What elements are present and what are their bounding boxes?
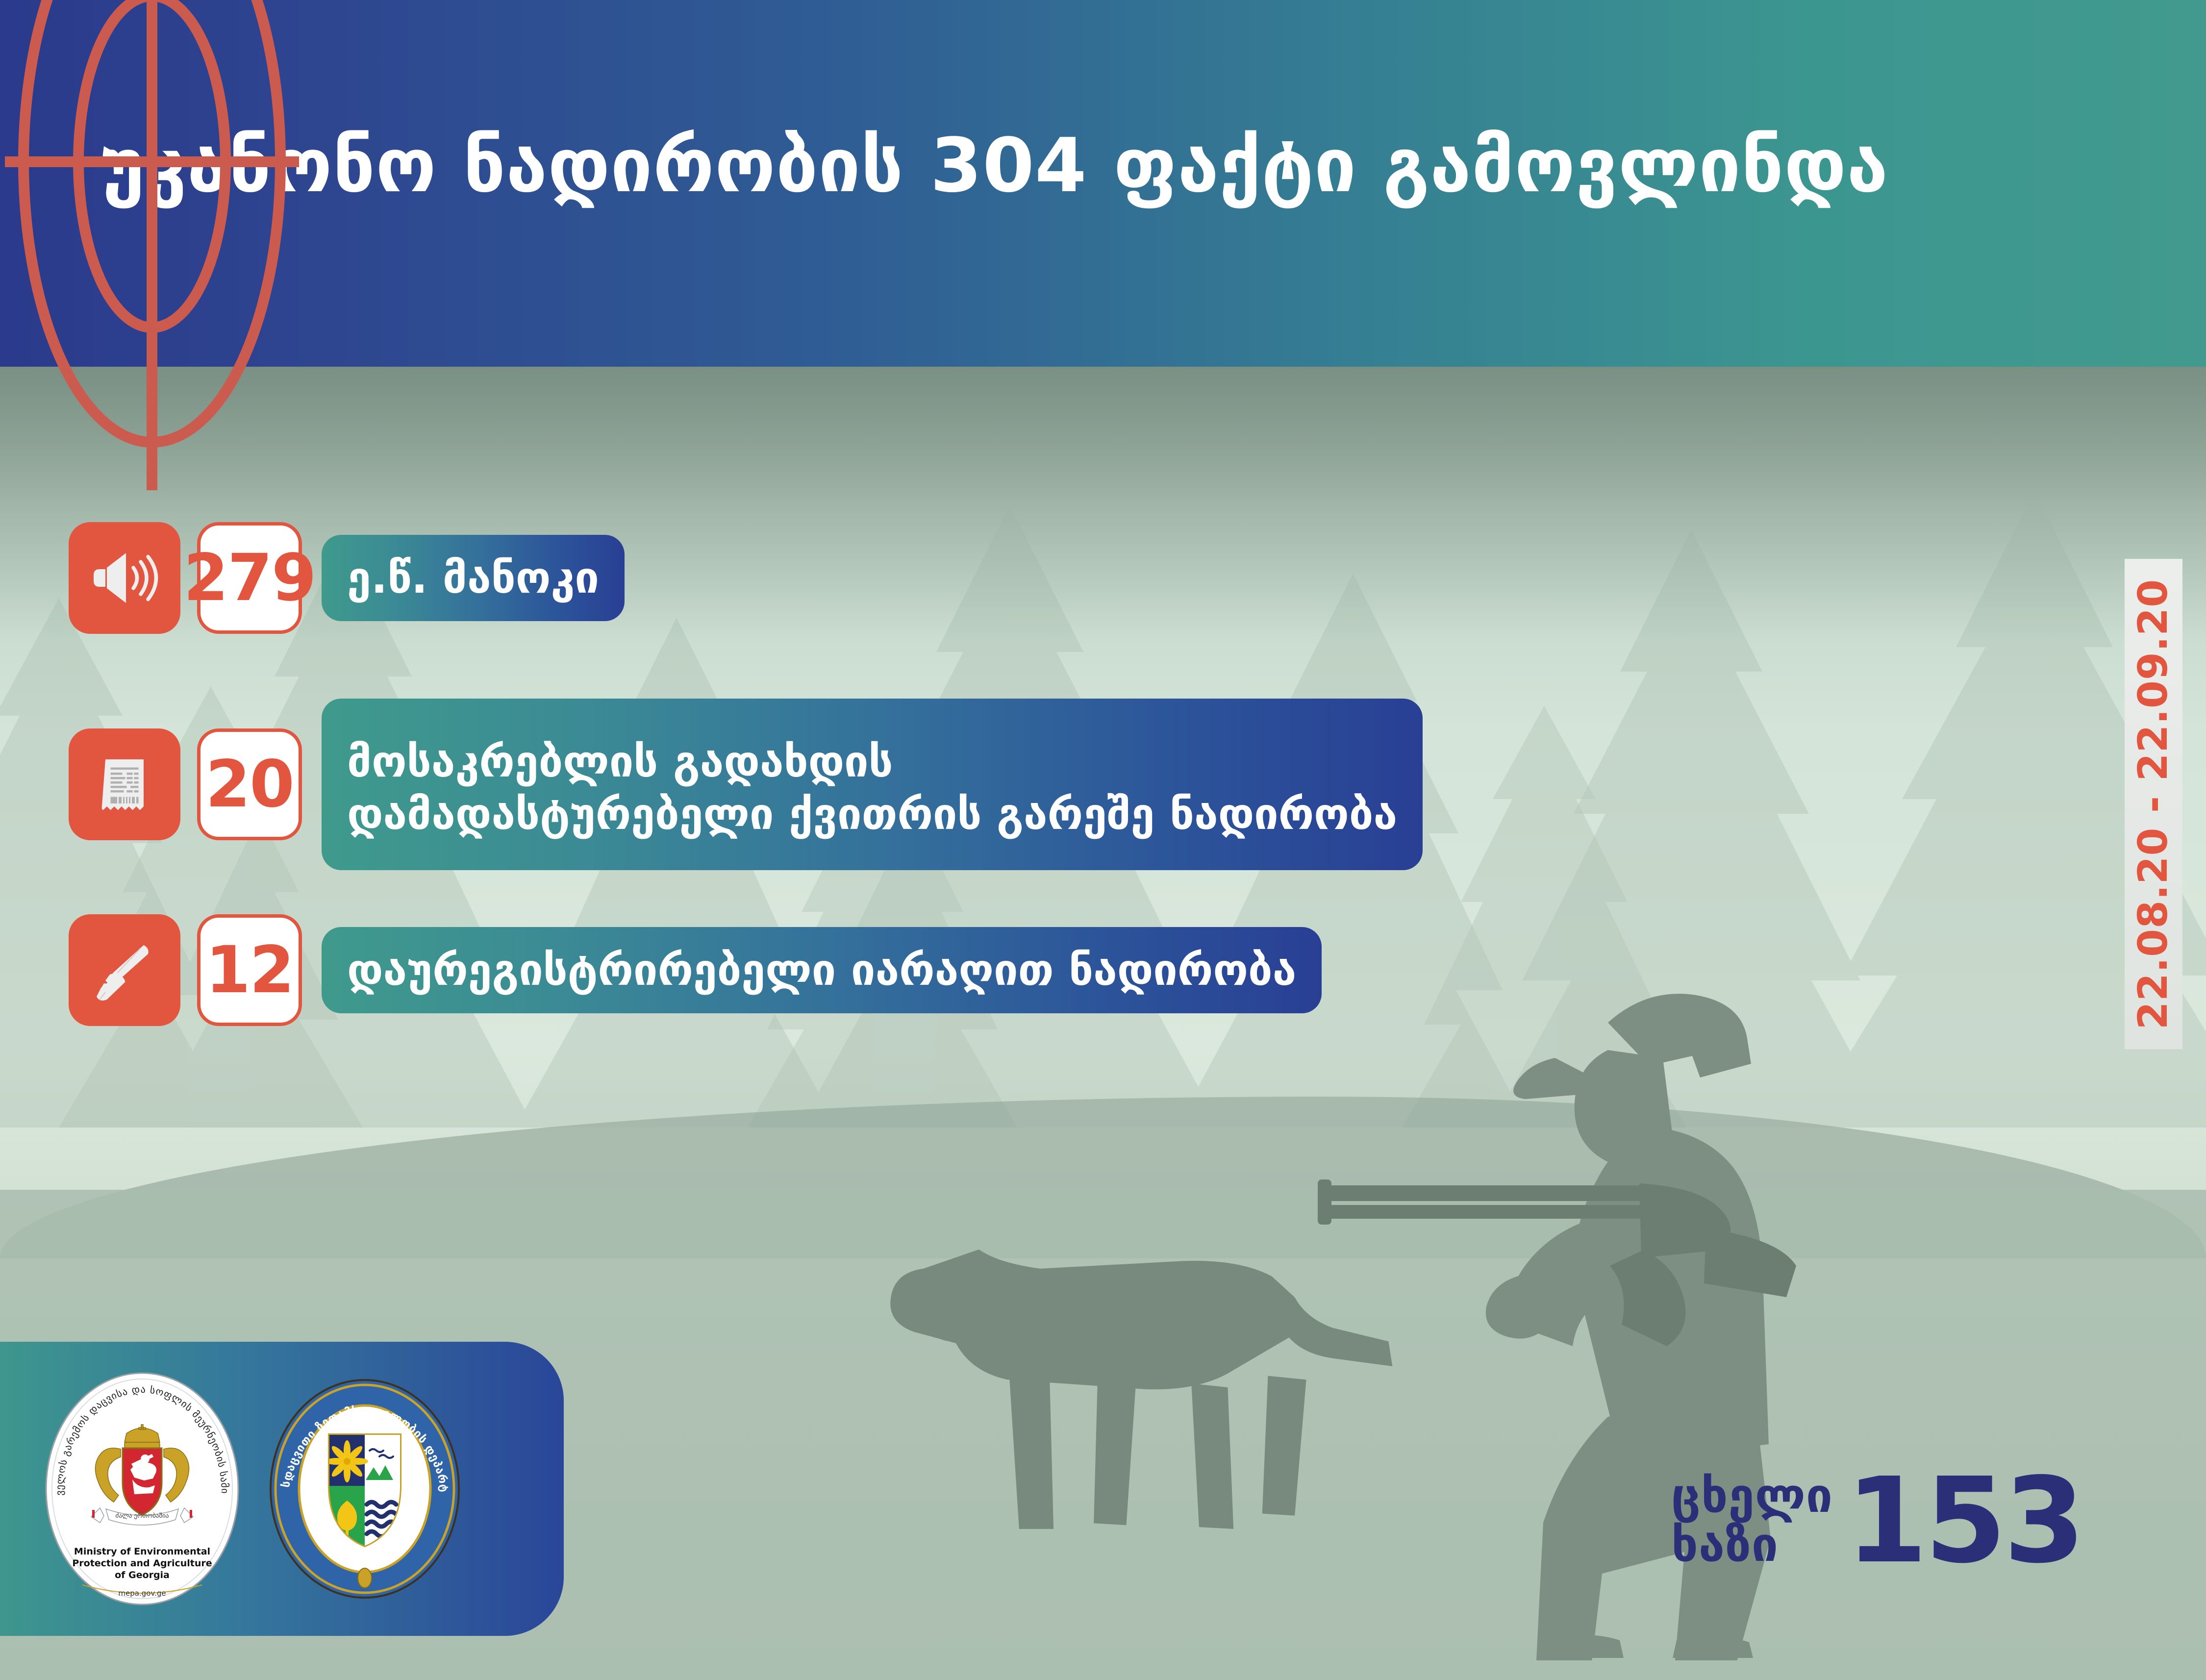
stat-count-2: 20 [197,728,302,840]
ministry-line3: of Georgia [115,1570,170,1580]
date-range-label: 22.08.20 - 22.09.20 [2131,578,2177,1029]
megaphone-icon [69,522,180,634]
hotline-words: ცხელი ხაზი [1671,1472,1833,1570]
stat-row-1: 279 ე.წ. მანოკი [69,522,625,634]
svg-text:ძალა ერთობაშია: ძალა ერთობაშია [116,1512,169,1520]
stat-count-3: 12 [197,914,302,1026]
infographic-poster: უკანონო ნადირობის 304 ფაქტი გამოვლინდა [0,0,2206,1680]
hotline-block: ცხელი ხაზი 153 [1671,1470,2082,1571]
stat-row-2: 20 მოსაკრებლის გადახდის დამადასტურებელი … [69,699,1423,870]
receipt-icon [69,728,180,840]
rifle-icon [69,914,180,1026]
ministry-line2: Protection and Agriculture [72,1558,212,1569]
ministry-seal-logo: საქართველოს გარემოს დაცვისა და სოფლის მე… [44,1371,240,1606]
hotline-line1: ცხელი [1671,1472,1833,1521]
hotline-line2: ხაზი [1671,1521,1833,1570]
logo-panel: საქართველოს გარემოს დაცვისა და სოფლის მე… [0,1342,564,1636]
ministry-line1: Ministry of Environmental [74,1546,210,1557]
hotline-number: 153 [1846,1470,2082,1571]
date-range-strip: 22.08.20 - 22.09.20 [2125,559,2182,1049]
stat-count-1: 279 [197,522,302,634]
stat-label-3: დაურეგისტრირებელი იარაღით ნადირობა [322,927,1322,1013]
stat-row-3: 12 დაურეგისტრირებელი იარაღით ნადირობა [69,914,1322,1026]
stat-label-1: ე.წ. მანოკი [322,535,625,621]
stat-label-2: მოსაკრებლის გადახდის დამადასტურებელი ქვი… [322,699,1423,870]
ministry-website: mepa.gov.ge [118,1589,166,1598]
environmental-supervision-seal-logo: გარემოსდაცვითი ზედამხედველობის დეპარტამე… [267,1376,463,1602]
